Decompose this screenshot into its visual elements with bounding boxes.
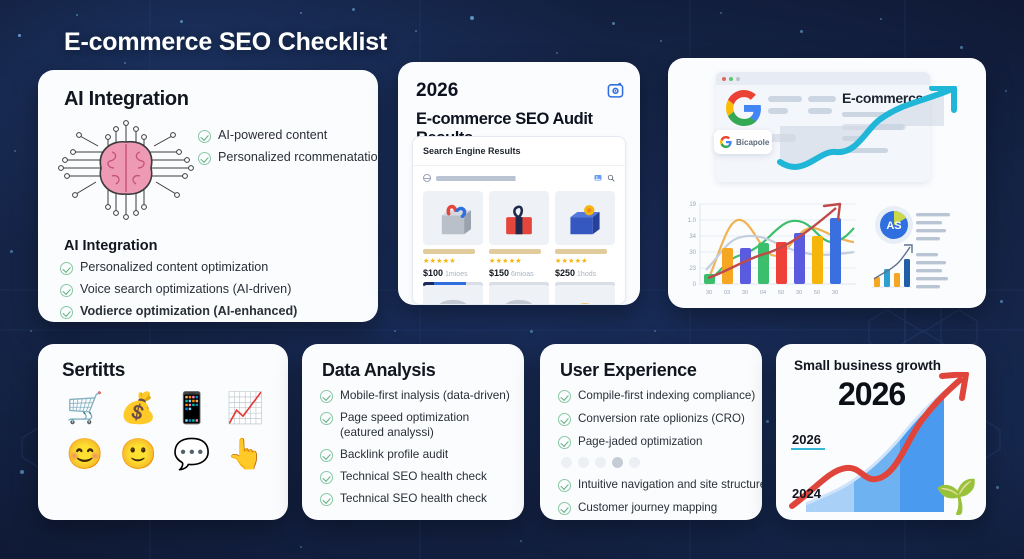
search-icon[interactable]: [607, 174, 615, 182]
divider: [413, 165, 625, 166]
growth-trend-arrow: [774, 86, 980, 191]
product-rating: ★★★★★: [423, 258, 483, 266]
check-icon: [320, 493, 333, 506]
svg-text:19: 19: [689, 202, 696, 208]
product-card[interactable]: ★★★★★ $1001mioes: [423, 191, 483, 287]
check-icon: [558, 390, 571, 403]
price-meta: 6mioas: [511, 271, 534, 278]
list-item: Technical SEO health check: [320, 491, 516, 506]
chat-smiley-icon[interactable]: 💬: [173, 436, 210, 474]
user-experience-list: Compile-first indexing compliance) Conve…: [558, 388, 760, 520]
google-chip-label: Bicapole: [736, 138, 769, 147]
list-item-label: AI-powered content: [218, 128, 327, 143]
list-item-label: Personalized rcommenatation): [218, 150, 378, 165]
plant-icon: 🌱: [936, 480, 978, 514]
product-price: $1506mioas: [489, 268, 549, 278]
svg-text:50: 50: [814, 290, 820, 296]
product-results-row: ★★★★★ $1001mioes ★★★★★ $1506mioas: [423, 191, 615, 287]
product-image: [555, 191, 615, 245]
list-item: Page speed optimization (eatured analyss…: [320, 410, 516, 440]
price-value: $150: [489, 268, 509, 278]
svg-text:04: 04: [760, 290, 766, 296]
step-dot-active[interactable]: [612, 457, 623, 468]
audit-year: 2026: [416, 80, 458, 102]
list-item-label: Technical SEO health check: [340, 491, 487, 506]
list-item: Page-jaded optimization: [558, 434, 760, 449]
check-icon: [60, 284, 73, 297]
list-item: Personalized content optimization: [60, 260, 368, 275]
google-result-chip[interactable]: Bicapole: [714, 130, 772, 154]
browser-title-bar: [716, 72, 930, 85]
services-title: Sertitts: [62, 360, 125, 382]
product-name: [555, 249, 607, 254]
list-item-label: Customer journey mapping: [578, 500, 717, 515]
price-value: $250: [555, 268, 575, 278]
product-card[interactable]: ★★★★★ $1506mioas: [489, 191, 549, 287]
svg-text:0: 0: [693, 282, 697, 288]
ai-integration-title: AI Integration: [64, 88, 189, 111]
product-card[interactable]: ★★★★★ $2501hods: [555, 191, 615, 287]
check-icon: [320, 412, 333, 425]
check-icon: [558, 502, 571, 515]
list-item-label: Backlink profile audit: [340, 447, 448, 462]
svg-text:30: 30: [832, 290, 838, 296]
list-item: Intuitive navigation and site structure: [558, 477, 760, 492]
list-item-label: Mobile-first inalysis (data-driven): [340, 388, 510, 403]
window-dot-red: [722, 77, 726, 81]
growth-chart-icon[interactable]: 📈: [227, 390, 264, 428]
side-statistics: AS: [868, 203, 980, 298]
list-item-label: Technical SEO health check: [340, 469, 487, 484]
image-search-icon[interactable]: [594, 174, 602, 182]
card-ai-integration: AI Integration: [38, 70, 378, 322]
product-card[interactable]: [555, 285, 615, 305]
price-meta: 1mioes: [445, 271, 468, 278]
card-user-experience: User Experience Compile-first indexing c…: [540, 344, 762, 520]
svg-text:30: 30: [796, 290, 802, 296]
product-name: [423, 249, 475, 254]
mobile-phone-icon[interactable]: 📱: [173, 390, 210, 428]
price-value: $100: [423, 268, 443, 278]
check-icon: [60, 306, 73, 319]
price-meta: 1hods: [577, 271, 596, 278]
user-experience-title: User Experience: [560, 360, 697, 381]
data-analysis-title: Data Analysis: [322, 360, 436, 381]
product-price: $2501hods: [555, 268, 615, 278]
ai-integration-list: Personalized content optimization Voice …: [60, 260, 368, 322]
svg-text:50: 50: [778, 290, 784, 296]
svg-text:03: 03: [724, 290, 730, 296]
svg-text:1.0: 1.0: [688, 218, 697, 224]
camera-target-icon[interactable]: [607, 82, 624, 99]
list-item: Personalized rcommenatation): [198, 150, 378, 165]
ai-integration-subtitle: AI Integration: [64, 238, 157, 254]
svg-text:34: 34: [689, 234, 696, 240]
product-price: $1001mioes: [423, 268, 483, 278]
growth-axis-underline: [791, 448, 825, 450]
shopping-cart-icon[interactable]: 🛒: [66, 390, 103, 428]
list-item-label: Personalized content optimization: [80, 260, 268, 275]
product-image: [489, 191, 549, 245]
product-card[interactable]: [423, 285, 483, 305]
step-dot[interactable]: [578, 457, 589, 468]
check-icon: [558, 479, 571, 492]
check-icon: [60, 262, 73, 275]
panel-title: Search Engine Results: [423, 146, 521, 156]
list-item: AI-powered content: [198, 128, 378, 143]
bar-chart: 191.034 30230 30033004: [674, 198, 864, 298]
window-dot-grey: [736, 77, 740, 81]
list-item: Voice search optimizations (AI-driven): [60, 282, 368, 297]
page-title: E-commerce SEO Checklist: [64, 28, 387, 57]
ai-integration-top-list: AI-powered content Personalized rcommena…: [198, 128, 378, 172]
smiley-face-icon[interactable]: 🙂: [120, 436, 157, 474]
list-item: Conversion rate oplionizs (CRO): [558, 411, 760, 426]
step-dots: [561, 457, 760, 468]
list-item-label: Page speed optimization (eatured analyss…: [340, 410, 490, 440]
check-icon: [558, 436, 571, 449]
svg-text:AS: AS: [886, 220, 901, 232]
google-logo-icon: [720, 136, 732, 148]
card-services: Sertitts 🛒 💰 📱 📈 😊 🙂 💬 👆: [38, 344, 288, 520]
list-item: Customer journey mapping: [558, 500, 760, 515]
check-icon: [320, 390, 333, 403]
growth-title: Small business growth: [794, 358, 941, 373]
list-item-label: Compile-first indexing compliance): [578, 388, 755, 403]
brain-circuit-icon: [56, 116, 196, 226]
product-name: [489, 249, 541, 254]
step-dot[interactable]: [561, 457, 572, 468]
list-item-label: Conversion rate oplionizs (CRO): [578, 411, 745, 426]
check-icon: [320, 449, 333, 462]
card-analytics-illustration: E-commercs Bi: [668, 58, 986, 308]
pointing-hand-icon[interactable]: 👆: [227, 436, 264, 474]
check-icon: [320, 471, 333, 484]
check-icon: [198, 130, 211, 143]
services-icon-grid: 🛒 💰 📱 📈 😊 🙂 💬 👆: [58, 390, 272, 474]
data-analysis-list: Mobile-first inalysis (data-driven) Page…: [320, 388, 516, 513]
list-item-label: Page-jaded optimization: [578, 434, 702, 449]
product-image: [423, 191, 483, 245]
list-item: Mobile-first inalysis (data-driven): [320, 388, 516, 403]
product-rating: ★★★★★: [555, 258, 615, 266]
check-icon: [558, 413, 571, 426]
smiley-card-icon[interactable]: 😊: [66, 436, 103, 474]
window-dot-green: [729, 77, 733, 81]
step-dot[interactable]: [629, 457, 640, 468]
google-logo-icon: [726, 90, 762, 126]
svg-text:23: 23: [689, 266, 696, 272]
search-engine-results-panel: Search Engine Results: [412, 136, 626, 305]
list-item: Vodierce optimization (AI-enhanced): [60, 304, 368, 319]
step-dot[interactable]: [595, 457, 606, 468]
check-icon: [198, 152, 211, 165]
card-data-analysis: Data Analysis Mobile-first inalysis (dat…: [302, 344, 524, 520]
product-card[interactable]: [489, 285, 549, 305]
list-item-label: Vodierce optimization (AI-enhanced): [80, 304, 297, 319]
product-rating: ★★★★★: [489, 258, 549, 266]
growth-axis-bottom-label: 2024: [792, 486, 821, 501]
list-item: Technical SEO health check: [320, 469, 516, 484]
card-seo-audit-results: 2026 E-commerce SEO Audit Results Search…: [398, 62, 640, 305]
url-bar[interactable]: [423, 171, 615, 185]
svg-text:30: 30: [706, 290, 712, 296]
product-results-row-second: [423, 285, 615, 305]
growth-big-year: 2026: [838, 376, 905, 413]
card-small-business-growth: Small business growth 2026 2026 2024 🌱: [776, 344, 986, 520]
list-item: Compile-first indexing compliance): [558, 388, 760, 403]
growth-axis-top-label: 2026: [792, 432, 821, 447]
list-item: Backlink profile audit: [320, 447, 516, 462]
svg-text:30: 30: [689, 250, 696, 256]
hand-coins-icon[interactable]: 💰: [120, 390, 157, 428]
url-text: [436, 176, 589, 181]
globe-icon: [423, 174, 431, 182]
list-item-label: Intuitive navigation and site structure: [578, 477, 762, 492]
list-item-label: Voice search optimizations (AI-driven): [80, 282, 291, 297]
svg-text:30: 30: [742, 290, 748, 296]
